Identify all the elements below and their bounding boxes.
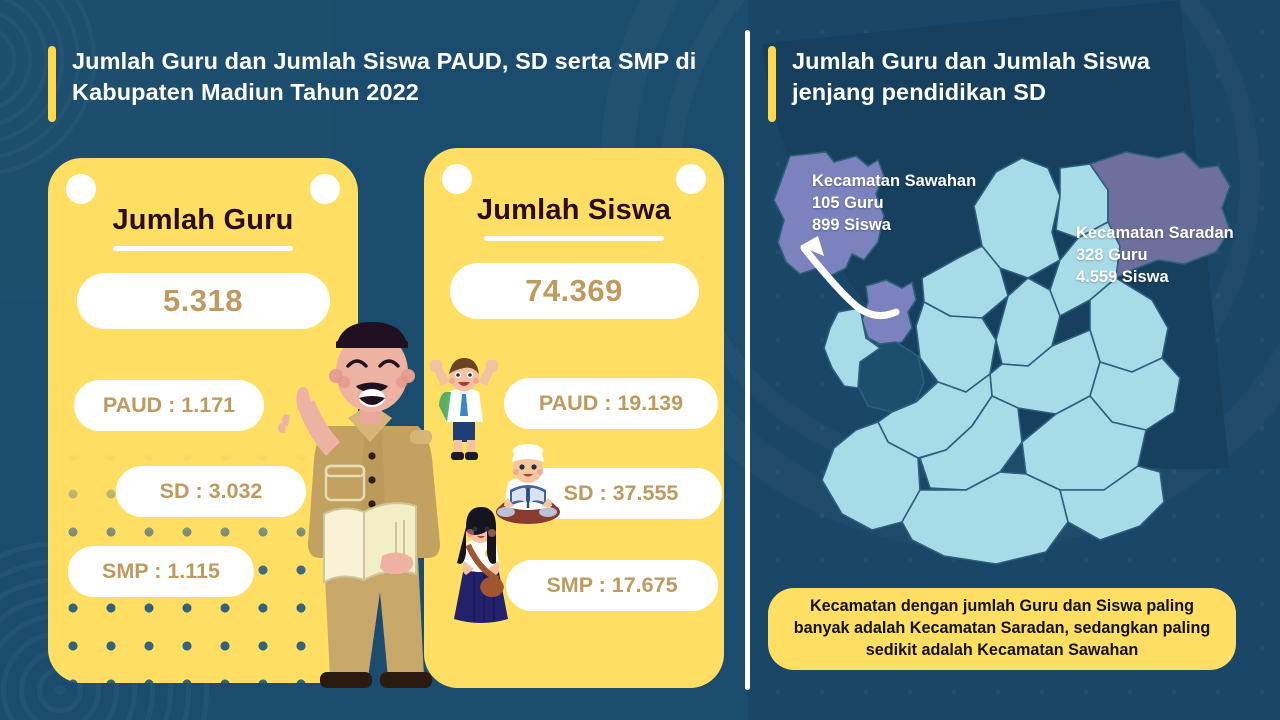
map-label-sawahan-guru: 105 Guru <box>812 192 976 214</box>
header-underline <box>113 246 293 251</box>
map-label-saradan-guru: 328 Guru <box>1076 244 1234 266</box>
map-label-saradan-siswa: 4.559 Siswa <box>1076 266 1234 288</box>
right-title-text: Jumlah Guru dan Jumlah Siswa jenjang pen… <box>792 46 1238 122</box>
footnote-text: Kecamatan dengan jumlah Guru dan Siswa p… <box>782 596 1222 662</box>
map-label-saradan-name: Kecamatan Saradan <box>1076 222 1234 244</box>
guru-smp-value: SMP : 1.115 <box>102 559 220 584</box>
map-label-sawahan-name: Kecamatan Sawahan <box>812 170 976 192</box>
left-section-title: Jumlah Guru dan Jumlah Siswa PAUD, SD se… <box>48 46 728 122</box>
siswa-smp-pill: SMP : 17.675 <box>506 560 718 611</box>
left-title-text: Jumlah Guru dan Jumlah Siswa PAUD, SD se… <box>72 46 728 122</box>
siswa-sd-value: SD : 37.555 <box>564 481 679 506</box>
siswa-paud-pill: PAUD : 19.139 <box>504 378 718 429</box>
card-header: Jumlah Guru <box>48 158 358 251</box>
map-label-sawahan: Kecamatan Sawahan 105 Guru 899 Siswa <box>812 170 976 236</box>
student-girl-illustration-icon <box>442 505 520 627</box>
right-section-title: Jumlah Guru dan Jumlah Siswa jenjang pen… <box>768 46 1238 122</box>
map-label-saradan: Kecamatan Saradan 328 Guru 4.559 Siswa <box>1076 222 1234 288</box>
title-accent-bar <box>768 46 776 122</box>
total-siswa-value: 74.369 <box>525 273 623 309</box>
guru-paud-value: PAUD : 1.171 <box>103 393 235 418</box>
siswa-paud-value: PAUD : 19.139 <box>539 391 683 416</box>
map-region-light-s4 <box>902 472 1068 564</box>
footnote-box: Kecamatan dengan jumlah Guru dan Siswa p… <box>768 588 1236 670</box>
guru-smp-pill: SMP : 1.115 <box>68 546 254 597</box>
card-header: Jumlah Siswa <box>424 148 724 241</box>
map-label-sawahan-siswa: 899 Siswa <box>812 214 976 236</box>
title-accent-bar <box>48 46 56 122</box>
total-guru-value: 5.318 <box>163 283 243 319</box>
guru-sd-value: SD : 3.032 <box>160 479 263 504</box>
guru-paud-pill: PAUD : 1.171 <box>74 380 264 431</box>
header-underline <box>484 236 664 241</box>
card-heading-siswa: Jumlah Siswa <box>424 194 724 227</box>
total-siswa-pill: 74.369 <box>450 263 699 319</box>
student-sd-illustration-icon <box>429 356 499 462</box>
vertical-divider <box>745 30 750 690</box>
card-heading-guru: Jumlah Guru <box>48 204 358 237</box>
siswa-smp-value: SMP : 17.675 <box>546 573 677 598</box>
map-region-light-e1 <box>1090 278 1168 372</box>
